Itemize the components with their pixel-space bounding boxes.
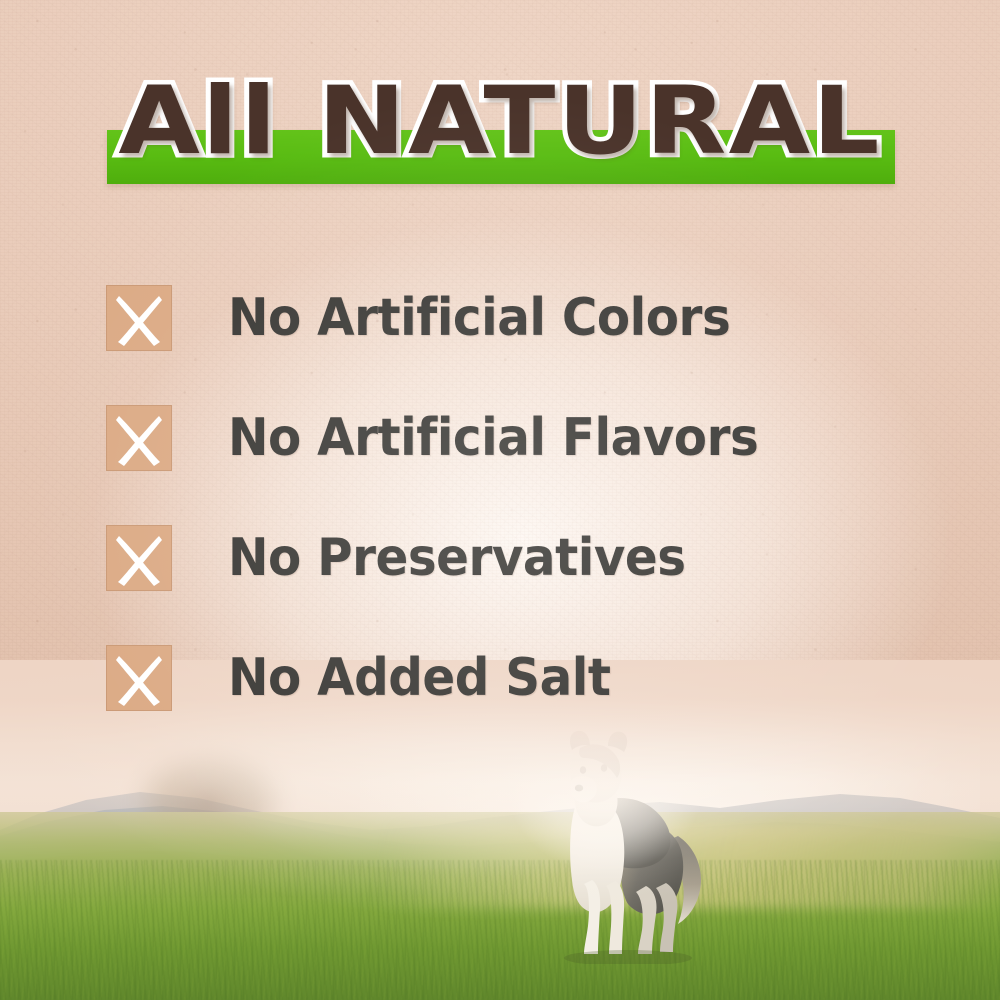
list-item: No Added Salt <box>106 618 926 738</box>
x-mark-icon <box>106 645 172 711</box>
list-item: No Artificial Flavors <box>106 378 926 498</box>
grass-texture <box>0 860 1000 1000</box>
feature-list: No Artificial Colors No Artificial Flavo… <box>106 258 926 738</box>
list-item: No Preservatives <box>106 498 926 618</box>
dog-silhouette <box>528 728 718 964</box>
list-item-label: No Added Salt <box>228 652 611 704</box>
x-mark-icon <box>106 405 172 471</box>
list-item-label: No Preservatives <box>228 532 686 584</box>
list-item-label: No Artificial Colors <box>228 292 730 344</box>
all-natural-product-poster: All NATURAL No Artificial Colors No Arti… <box>0 0 1000 1000</box>
headline-banner: All NATURAL <box>0 62 1000 192</box>
page-title: All NATURAL <box>0 62 1000 182</box>
list-item-label: No Artificial Flavors <box>228 412 758 464</box>
list-item: No Artificial Colors <box>106 258 926 378</box>
x-mark-icon <box>106 525 172 591</box>
x-mark-icon <box>106 285 172 351</box>
